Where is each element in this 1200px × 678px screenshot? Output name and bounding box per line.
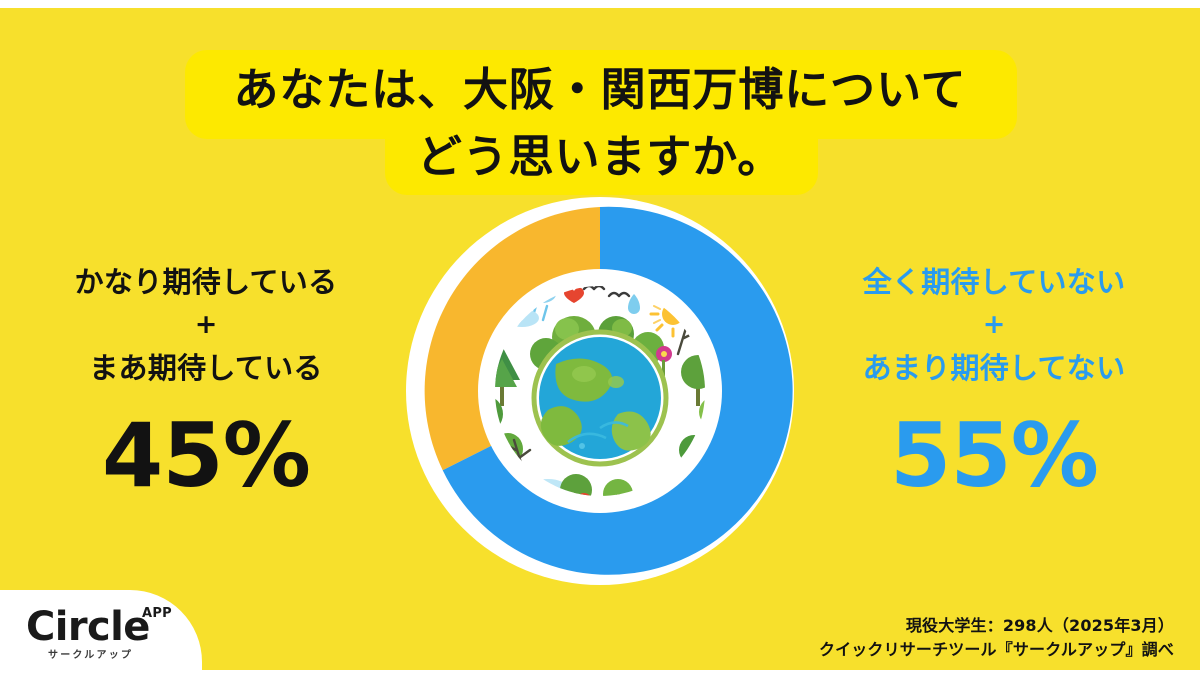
brand-logo-panel: Circle APP サークルアップ — [0, 590, 202, 678]
footnote-line-1: 現役大学生：298人（2025年3月） — [819, 614, 1174, 638]
legend-right-line-1: 全く期待していない — [796, 258, 1192, 306]
globe-icon — [534, 332, 666, 464]
page-title: あなたは、大阪・関西万博について どう思いますか。 — [0, 50, 1200, 195]
legend-right-percent: 55% — [796, 408, 1192, 504]
title-line-2-text: どう思いますか。 — [417, 130, 783, 183]
brand-logo-subtitle: サークルアップ — [48, 650, 133, 662]
survey-footnote: 現役大学生：298人（2025年3月） クイックリサーチツール『サークルアップ』… — [819, 614, 1174, 662]
legend-right: 全く期待していない + あまり期待してない 55% — [796, 258, 1192, 504]
title-line-1: あなたは、大阪・関西万博について — [0, 50, 1200, 125]
brand-logo: Circle APP サークルアップ — [26, 606, 186, 664]
infographic-canvas: あなたは、大阪・関西万博について どう思いますか。 — [0, 0, 1200, 678]
legend-left-line-1: かなり期待している — [12, 258, 400, 306]
brand-logo-superscript: APP — [142, 607, 172, 621]
legend-left-line-2: まあ期待している — [12, 344, 400, 392]
title-line-2: どう思いますか。 — [0, 125, 1200, 195]
legend-right-line-2: あまり期待してない — [796, 344, 1192, 392]
legend-left-percent: 45% — [12, 408, 400, 504]
donut-chart — [396, 196, 804, 586]
title-line-1-text: あなたは、大阪・関西万博について — [233, 63, 966, 116]
footnote-line-2: クイックリサーチツール『サークルアップ』調べ — [819, 638, 1174, 662]
legend-left: かなり期待している + まあ期待している 45% — [12, 258, 400, 504]
donut-chart-svg — [396, 196, 804, 586]
brand-logo-wordmark: Circle — [26, 606, 150, 648]
legend-right-plus: + — [796, 306, 1192, 344]
legend-left-plus: + — [12, 306, 400, 344]
